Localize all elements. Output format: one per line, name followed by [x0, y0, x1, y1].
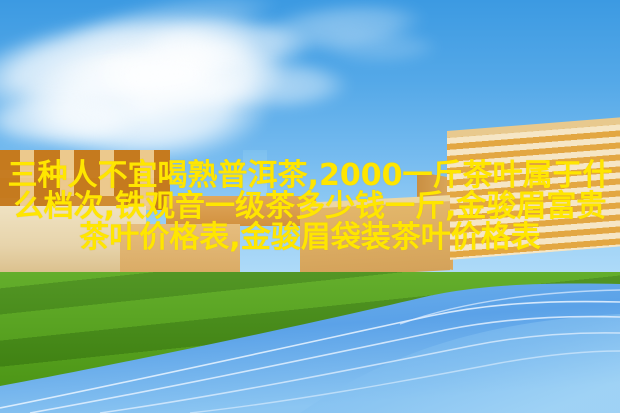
- headline-text: 三种人不宜喝熟普洱茶,2000一斤茶叶属于什么档次,铁观音一级茶多少钱一斤,金骏…: [0, 160, 620, 253]
- cloud-icon: [200, 60, 350, 110]
- cloud-icon: [140, 16, 310, 76]
- cloud-icon: [20, 52, 270, 162]
- cloud-icon: [320, 30, 440, 64]
- running-track-svg: [0, 262, 620, 413]
- cloud-icon: [253, 0, 427, 59]
- cloud-icon: [58, 0, 282, 63]
- banner-image: 三种人不宜喝熟普洱茶,2000一斤茶叶属于什么档次,铁观音一级茶多少钱一斤,金骏…: [0, 0, 620, 413]
- cloud-icon: [0, 0, 265, 131]
- cloud-icon: [95, 34, 285, 114]
- cloud-icon: [0, 92, 140, 147]
- running-track: [0, 262, 620, 413]
